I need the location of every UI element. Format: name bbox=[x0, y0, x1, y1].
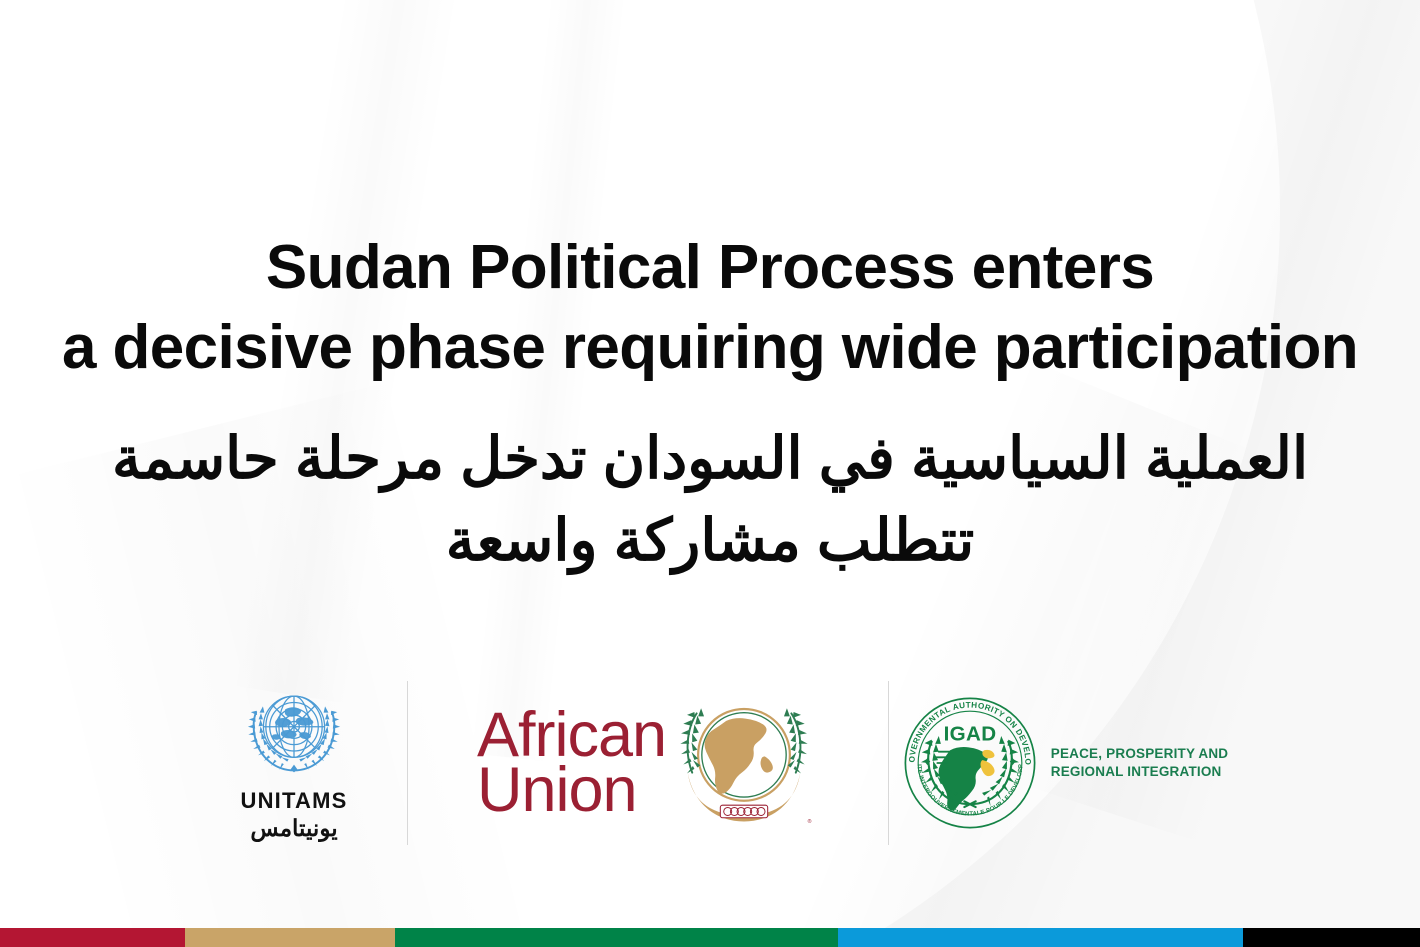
african-union-wordmark-line-2: Union bbox=[477, 763, 666, 818]
igad-tagline-line-1: PEACE, PROSPERITY AND bbox=[1051, 745, 1229, 763]
african-union-emblem-icon: ® bbox=[670, 694, 818, 832]
headline-english-line-2: a decisive phase requiring wide particip… bbox=[0, 308, 1420, 388]
logo-igad: INTERGOVERNMENTAL AUTHORITY ON DEVELOPME… bbox=[889, 668, 1239, 858]
headline-english: Sudan Political Process enters a decisiv… bbox=[0, 228, 1420, 388]
unitams-label: UNITAMS bbox=[241, 788, 348, 814]
headline-arabic-line-1: العملية السياسية في السودان تدخل مرحلة bbox=[295, 426, 1308, 491]
un-emblem-icon bbox=[240, 684, 348, 784]
unitams-label-arabic: يونيتامس bbox=[250, 815, 337, 842]
igad-emblem-icon: INTERGOVERNMENTAL AUTHORITY ON DEVELOPME… bbox=[899, 692, 1041, 834]
headline-arabic: العملية السياسية في السودان تدخل مرحلة ح… bbox=[0, 418, 1420, 582]
logo-unitams: UNITAMS يونيتامس bbox=[182, 668, 407, 858]
logo-strip: UNITAMS يونيتامس African Union bbox=[0, 668, 1420, 858]
svg-text:®: ® bbox=[808, 818, 812, 825]
svg-text:IGAD: IGAD bbox=[943, 722, 996, 745]
igad-tagline: PEACE, PROSPERITY AND REGIONAL INTEGRATI… bbox=[1051, 745, 1229, 781]
color-bar-segment-green bbox=[395, 928, 838, 947]
african-union-wordmark: African Union bbox=[477, 708, 666, 819]
bottom-color-bar bbox=[0, 928, 1420, 947]
headline-english-line-1: Sudan Political Process enters bbox=[0, 228, 1420, 308]
poster-canvas: Sudan Political Process enters a decisiv… bbox=[0, 0, 1420, 947]
igad-tagline-line-2: REGIONAL INTEGRATION bbox=[1051, 763, 1229, 781]
color-bar-segment-black bbox=[1243, 928, 1420, 947]
color-bar-segment-tan bbox=[185, 928, 395, 947]
color-bar-segment-blue bbox=[838, 928, 1243, 947]
logo-african-union: African Union bbox=[408, 668, 888, 858]
color-bar-segment-red bbox=[0, 928, 185, 947]
